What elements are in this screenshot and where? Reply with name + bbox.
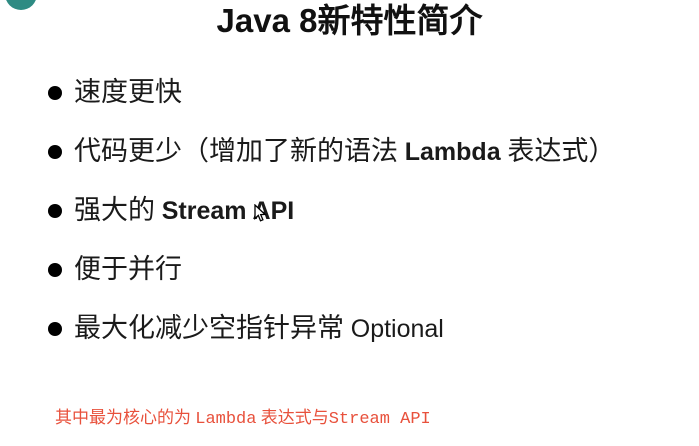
footnote-text: 其中最为核心的为 Lambda 表达式与Stream API — [55, 406, 431, 432]
list-item-text: 代码更少（增加了新的语法 Lambda 表达式） — [74, 131, 688, 172]
list-item-text-post: Optional — [351, 315, 444, 343]
list-item-text-pre: 最大化减少空指针异常 — [74, 313, 351, 343]
footnote-mono-stream-api: Stream API — [329, 410, 431, 429]
list-item: 代码更少（增加了新的语法 Lambda 表达式） — [48, 131, 688, 190]
footnote-pre: 其中最为核心的为 — [55, 408, 195, 427]
bullet-dot-icon — [48, 204, 62, 218]
list-item-text: 速度更快 — [74, 72, 688, 112]
page-title-cn: 新特性简介 — [317, 4, 482, 40]
bullet-dot-icon — [48, 86, 62, 100]
list-item-text-post: 表达式） — [501, 136, 616, 166]
list-item: 速度更快 — [48, 72, 688, 131]
bullet-dot-icon — [48, 145, 62, 159]
list-item-text-pre: 代码更少（增加了新的语法 — [74, 136, 405, 166]
list-item-text-pre: 强大的 — [74, 195, 162, 225]
list-item: 强大的 Stream API — [48, 190, 688, 249]
bullet-dot-icon — [48, 322, 62, 336]
page-title-latin: Java 8 — [217, 2, 318, 39]
list-item-emphasis: Stream API — [162, 197, 294, 225]
slide-canvas: Java 8新特性简介 速度更快 代码更少（增加了新的语法 Lambda 表达式… — [0, 0, 699, 446]
page-title: Java 8新特性简介 — [0, 1, 699, 42]
bullet-dot-icon — [48, 263, 62, 277]
bullet-list: 速度更快 代码更少（增加了新的语法 Lambda 表达式） 强大的 Stream… — [48, 72, 688, 367]
list-item-text-pre: 便于并行 — [74, 254, 182, 284]
list-item-text: 强大的 Stream API — [74, 190, 688, 231]
list-item-text: 便于并行 — [74, 249, 688, 289]
list-item-text: 最大化减少空指针异常 Optional — [74, 308, 688, 349]
list-item-emphasis: Lambda — [405, 138, 501, 166]
list-item: 便于并行 — [48, 249, 688, 308]
list-item: 最大化减少空指针异常 Optional — [48, 308, 688, 367]
footnote-mid: 表达式与 — [256, 408, 328, 427]
list-item-text-pre: 速度更快 — [74, 77, 182, 107]
footnote-mono-lambda: Lambda — [195, 410, 256, 429]
